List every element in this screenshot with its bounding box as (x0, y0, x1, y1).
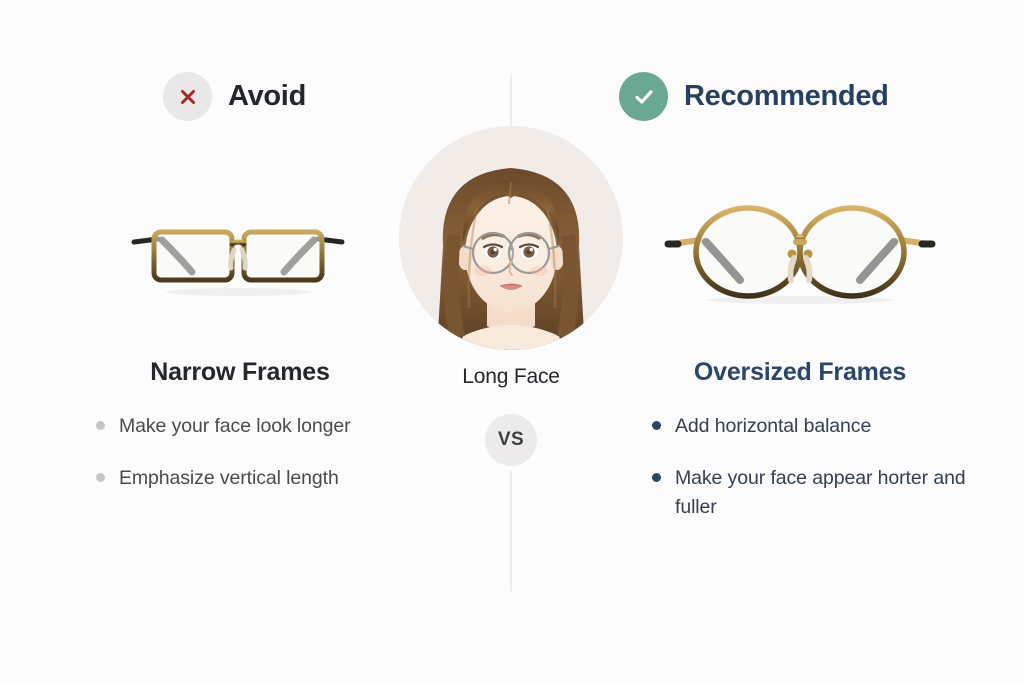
avoid-header-label: Avoid (228, 80, 306, 113)
bullet-dot-icon (652, 473, 661, 482)
bullet-dot-icon (652, 421, 661, 430)
recommended-header-label: Recommended (684, 80, 889, 113)
recommended-frame-title: Oversized Frames (620, 358, 980, 387)
avoid-frame-title: Narrow Frames (0, 358, 480, 387)
list-item-label: Make your face appear horter and fuller (675, 464, 992, 521)
list-item: Make your face appear horter and fuller (652, 464, 992, 521)
avoid-header: Avoid (163, 72, 306, 121)
narrow-rectangular-eyeglasses (118, 206, 358, 302)
recommended-bullet-list: Add horizontal balance Make your face ap… (652, 412, 992, 545)
list-item-label: Emphasize vertical length (119, 464, 339, 492)
bullet-dot-icon (96, 473, 105, 482)
list-item: Emphasize vertical length (96, 464, 436, 492)
woman-face-portrait (399, 126, 623, 350)
face-shape-label: Long Face (411, 365, 611, 389)
oversized-round-eyeglasses (660, 196, 940, 308)
x-mark-icon (163, 72, 212, 121)
bullet-dot-icon (96, 421, 105, 430)
comparison-infographic: Avoid Recommended (0, 0, 1024, 683)
divider-bottom (510, 470, 512, 592)
avoid-bullet-list: Make your face look longer Emphasize ver… (96, 412, 436, 517)
check-mark-icon (619, 72, 668, 121)
recommended-header: Recommended (619, 72, 889, 121)
list-item: Add horizontal balance (652, 412, 992, 440)
list-item-label: Add horizontal balance (675, 412, 871, 440)
vs-badge: VS (485, 414, 537, 466)
list-item: Make your face look longer (96, 412, 436, 440)
list-item-label: Make your face look longer (119, 412, 351, 440)
